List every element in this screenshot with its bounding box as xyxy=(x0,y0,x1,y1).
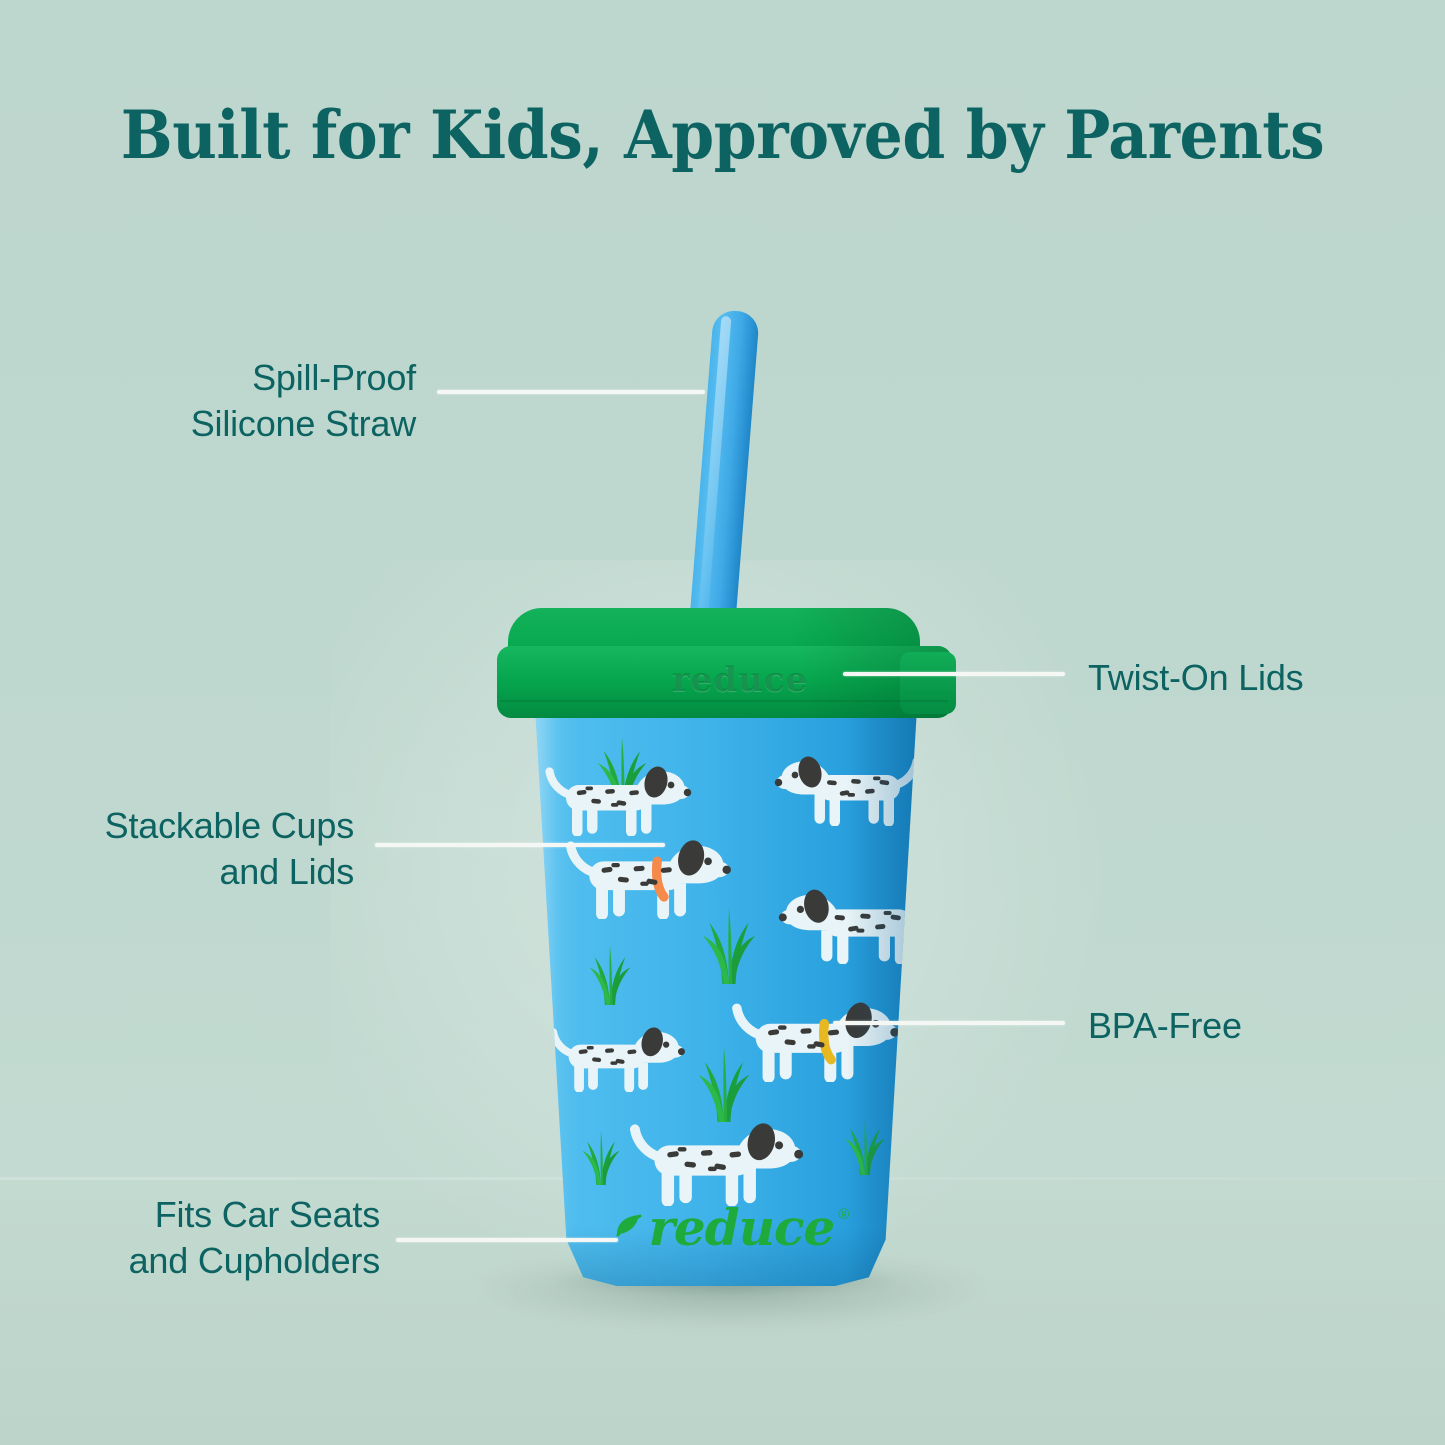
callout-label-spill-proof-straw: Spill-Proof Silicone Straw xyxy=(146,355,416,447)
callout-label-twist-on-lids: Twist-On Lids xyxy=(1088,655,1388,701)
grass-tuft-icon xyxy=(572,1124,630,1185)
straw-highlight xyxy=(698,316,732,616)
grass-tuft-icon xyxy=(578,938,642,1005)
lid-embossed-wordmark: reduce xyxy=(640,660,840,700)
callout-label-fits-car-seats-and-cupholders: Fits Car Seats and Cupholders xyxy=(110,1192,380,1284)
dog-icon xyxy=(626,1106,804,1206)
infographic-canvas: Built for Kids, Approved by Parents xyxy=(0,0,1445,1445)
cup-left-highlight xyxy=(516,706,558,1286)
registered-mark: ® xyxy=(838,1206,849,1223)
brand-logo: reduce ® xyxy=(600,1198,860,1256)
callout-leader-line-bpa-free xyxy=(833,1021,1065,1025)
callout-leader-line-fits-car-seats-and-cupholders xyxy=(396,1238,618,1242)
silicone-straw xyxy=(688,309,760,642)
callout-leader-line-spill-proof-straw xyxy=(437,390,705,394)
callout-label-stackable-cups-and-lids: Stackable Cups and Lids xyxy=(88,803,354,895)
callout-leader-line-twist-on-lids xyxy=(843,672,1065,676)
callout-leader-line-stackable-cups-and-lids xyxy=(375,843,665,847)
dog-icon xyxy=(546,1014,686,1092)
lid-grip-tab xyxy=(900,652,956,714)
dog-icon xyxy=(562,824,732,919)
brand-wordmark: reduce xyxy=(649,1198,835,1257)
callout-label-bpa-free: BPA-Free xyxy=(1088,1003,1388,1049)
lid-seam xyxy=(500,700,948,702)
